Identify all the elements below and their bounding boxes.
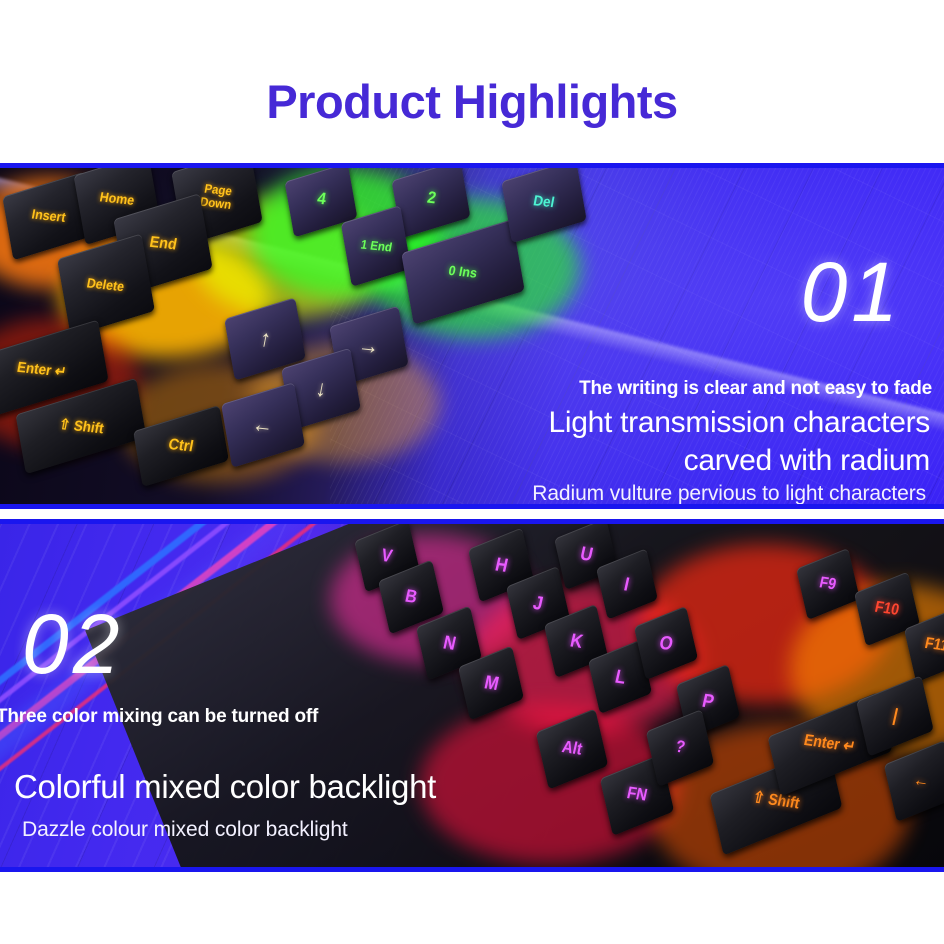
keycap-numpad-del[interactable]: Del — [501, 163, 586, 243]
panel-02-number: 02 — [22, 602, 123, 686]
panel-02-kicker: Three color mixing can be turned off — [0, 706, 318, 728]
panel-01-headline-2: carved with radium — [684, 444, 930, 478]
panel-01-kicker: The writing is clear and not easy to fad… — [579, 378, 932, 400]
panel-02-subline: Dazzle colour mixed color backlight — [22, 818, 348, 842]
panel-01-subline: Radium vulture pervious to light charact… — [532, 482, 926, 506]
highlight-panel-01: Insert Home Page Down End Delete 4 2 1 E… — [0, 163, 944, 509]
keyboard-image-02: V B H N J U M K I L O P — [0, 524, 944, 867]
panel-01-number: 01 — [801, 250, 902, 334]
page-title: Product Highlights — [0, 78, 944, 125]
highlight-panel-02: V B H N J U M K I L O P — [0, 519, 944, 872]
panel-02-headline-1: Colorful mixed color backlight — [14, 768, 436, 806]
panel-01-headline-1: Light transmission characters — [549, 406, 930, 440]
